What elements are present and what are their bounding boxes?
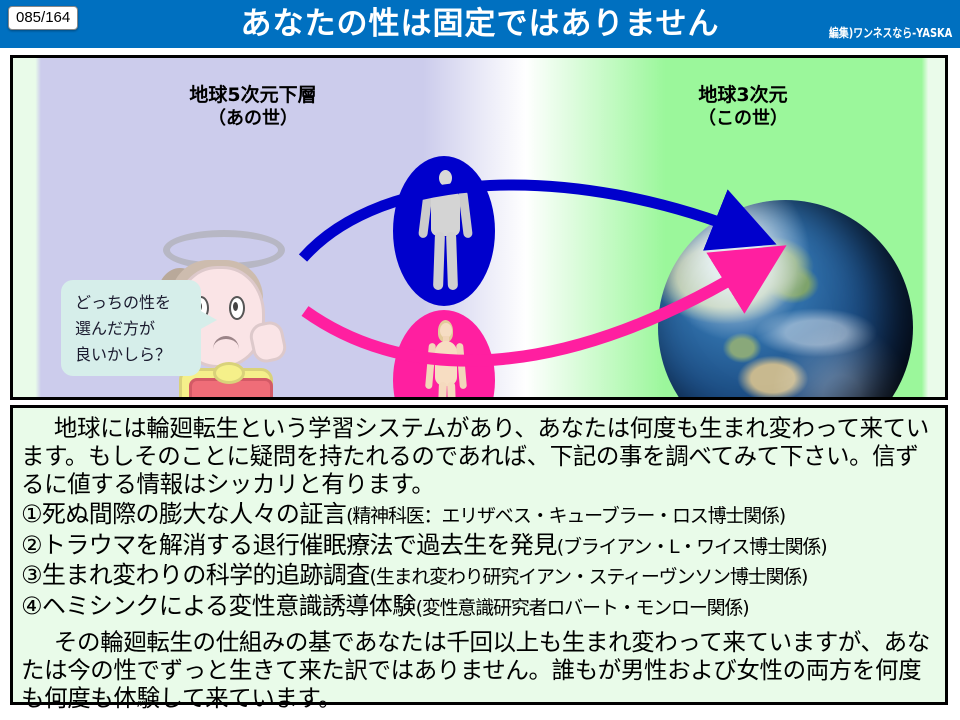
paragraph-2: その輪廻転生の仕組みの基であなたは千回以上も生まれ変わって来ていますが、あなたは… <box>21 628 937 712</box>
list-item: ②トラウマを解消する退行催眠療法で過去生を発見(ブライアン・L・ワイス博士関係) <box>21 531 937 562</box>
list-item: ①死ぬ間際の膨大な人々の証言(精神科医：エリザベス・キューブラー・ロス博士関係) <box>21 500 937 531</box>
page-title: あなたの性は固定ではありません <box>0 1 960 47</box>
speech-bubble-text: どっちの性を 選んだ方が 良いかしら？ <box>75 290 193 368</box>
list-item-note: (生まれ変わり研究イアン・スティーヴンソン博士関係) <box>370 566 808 588</box>
list-item-marker: ③ <box>21 561 42 589</box>
list-item-text: 生まれ変わりの科学的追跡調査 <box>42 561 370 589</box>
list-item-text: トラウマを解消する退行催眠療法で過去生を発見 <box>42 531 557 559</box>
list-item-note: (ブライアン・L・ワイス博士関係) <box>557 536 827 558</box>
male-rebirth-arrow <box>303 185 748 258</box>
list-item-text: 死ぬ間際の膨大な人々の証言 <box>42 500 346 528</box>
character-hand-on-chin <box>247 319 289 365</box>
character-pupil-right <box>233 302 238 311</box>
body-text-panel: 地球には輪廻転生という学習システムがあり、あなたは何度も生まれ変わって来ています… <box>10 405 948 705</box>
header-bar: 085/164 あなたの性は固定ではありません 編集)ワンネスなら-YASKA <box>0 0 960 48</box>
list-item-note: (精神科医：エリザベス・キューブラー・ロス博士関係) <box>346 505 785 527</box>
list-item: ④ヘミシンクによる変性意識誘導体験(変性意識研究者ロバート・モンロー関係) <box>21 592 937 623</box>
slide: 085/164 あなたの性は固定ではありません 編集)ワンネスなら-YASKA … <box>0 0 960 720</box>
list-item-text: ヘミシンクによる変性意識誘導体験 <box>42 592 416 620</box>
list-item-marker: ② <box>21 531 42 559</box>
list-item-note: (変性意識研究者ロバート・モンロー関係) <box>416 597 749 619</box>
list-item: ③生まれ変わりの科学的追跡調査(生まれ変わり研究イアン・スティーヴンソン博士関係… <box>21 561 937 592</box>
speech-bubble: どっちの性を 選んだ方が 良いかしら？ <box>61 280 201 376</box>
editor-credit: 編集)ワンネスなら-YASKA <box>829 26 952 40</box>
list-item-marker: ① <box>21 500 42 528</box>
list-item-marker: ④ <box>21 592 42 620</box>
diagram-panel: 地球5次元下層 （あの世） 地球3次元 （この世） <box>10 55 948 400</box>
paragraph-1: 地球には輪廻転生という学習システムがあり、あなたは何度も生まれ変わって来ています… <box>21 414 937 498</box>
female-rebirth-arrow <box>305 263 758 361</box>
character-collar <box>213 362 245 384</box>
